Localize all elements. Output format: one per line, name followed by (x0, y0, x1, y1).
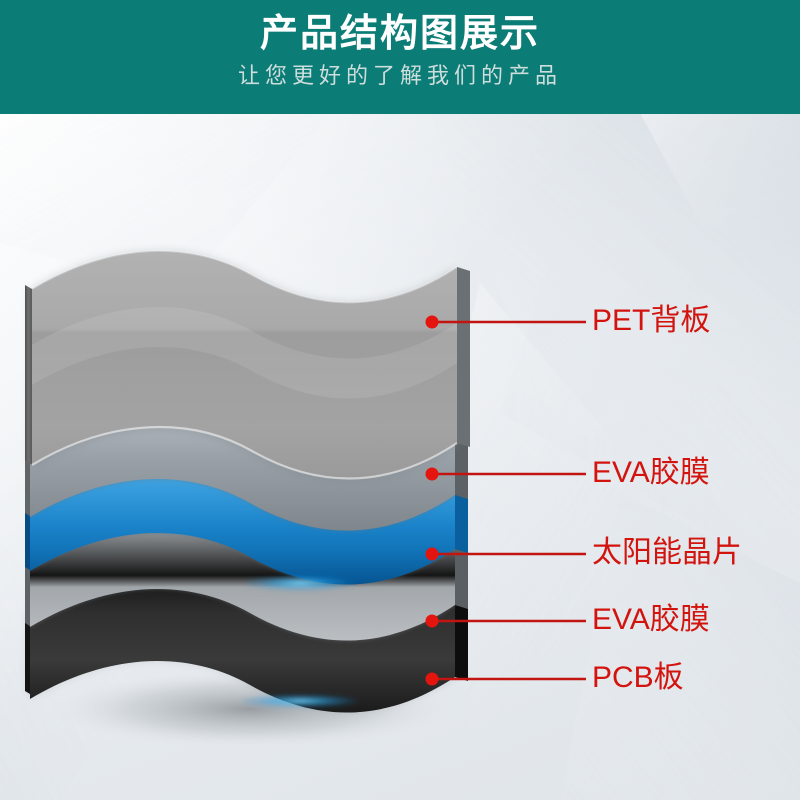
callout-line-pcb-board (426, 673, 587, 686)
page-header: 产品结构图展示 让您更好的了解我们的产品 (0, 0, 800, 114)
page-title: 产品结构图展示 (260, 13, 540, 56)
callout-line-eva-film-bottom (426, 615, 587, 628)
callout-line-pet-backsheet (426, 316, 587, 329)
callout-leader-lines (0, 0, 800, 800)
callout-line-eva-film-top (426, 468, 587, 481)
product-structure-diagram-page: 产品结构图展示 让您更好的了解我们的产品 (0, 0, 800, 800)
callout-line-solar-wafer (426, 548, 587, 561)
page-subtitle: 让您更好的了解我们的产品 (238, 64, 562, 88)
